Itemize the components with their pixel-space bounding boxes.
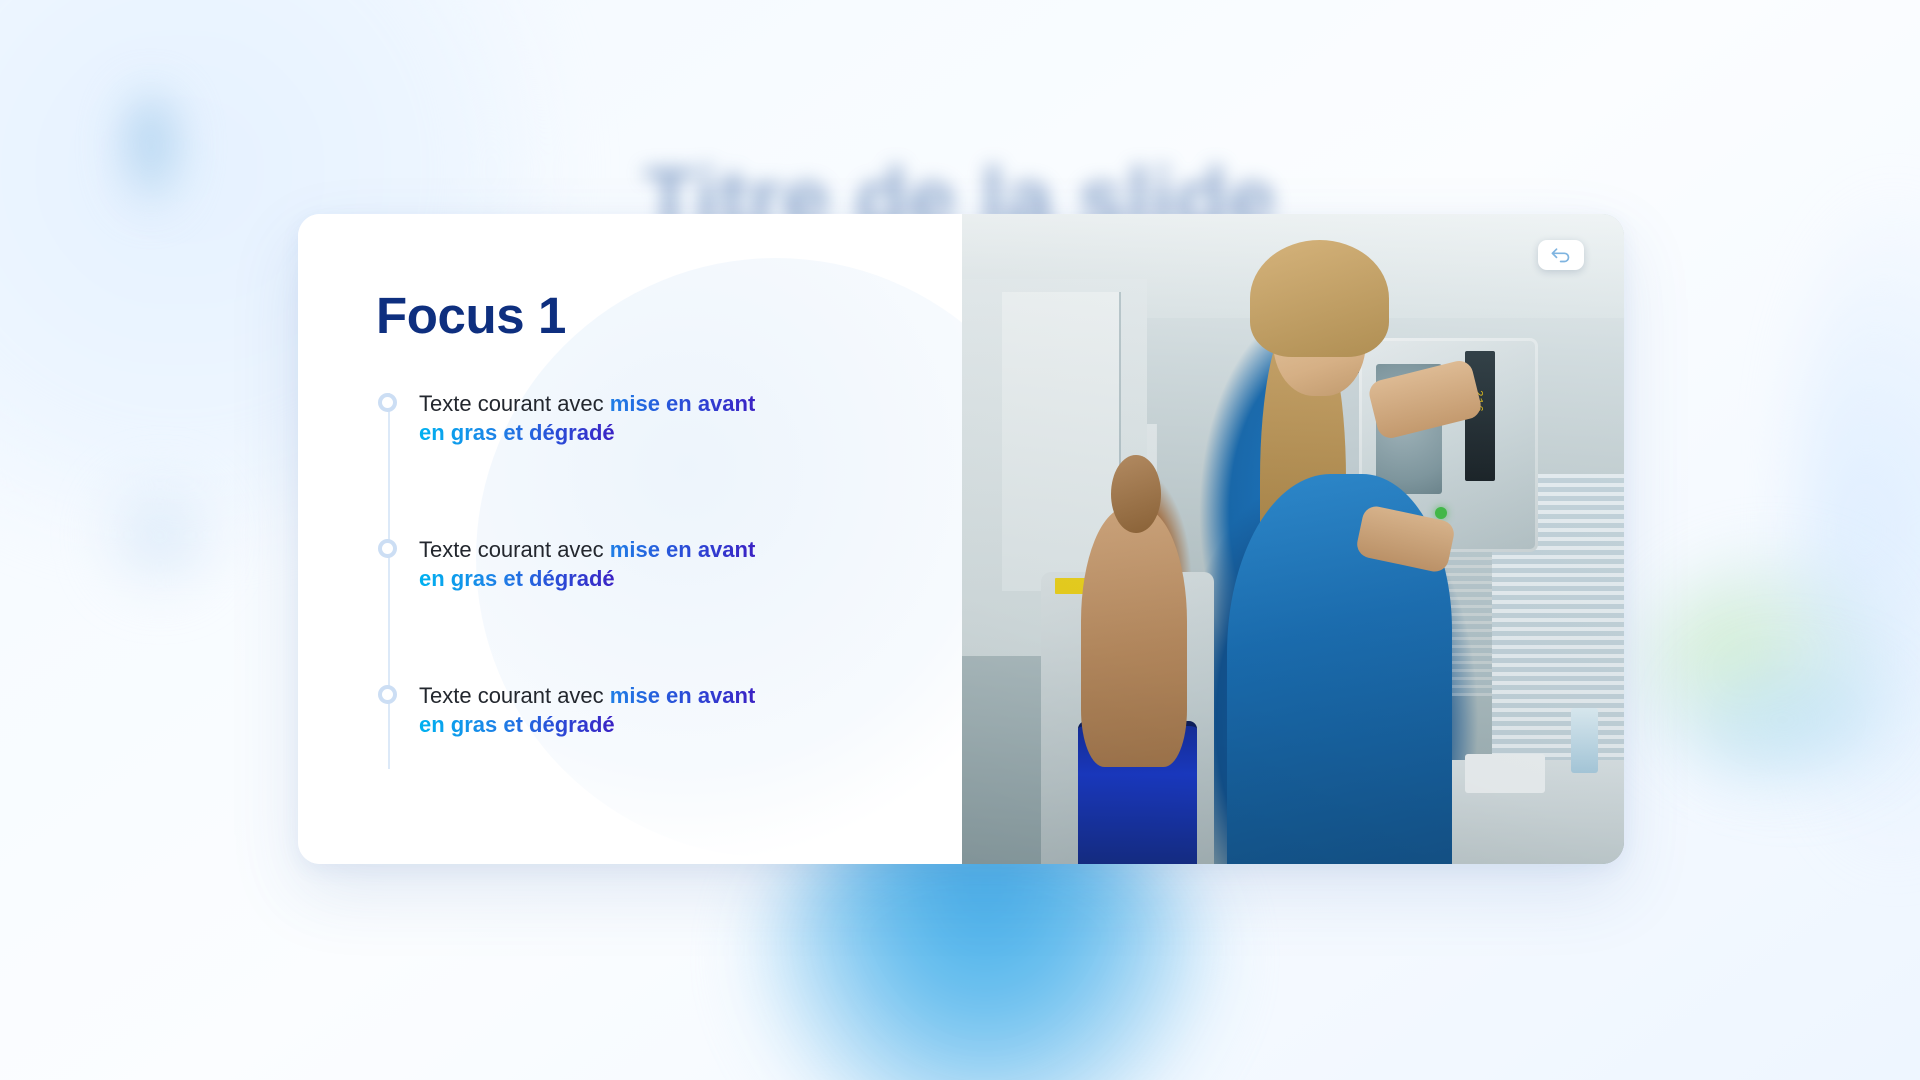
bullet-text: Texte courant avec mise en avanten gras …	[416, 389, 755, 447]
slide-photo	[962, 214, 1624, 864]
list-item[interactable]: Texte courant avec mise en avanten gras …	[376, 535, 962, 681]
bullet-marker	[376, 681, 416, 704]
bullet-highlight-1: mise en avant	[610, 683, 756, 708]
bullet-marker	[376, 389, 416, 412]
undo-button[interactable]	[1538, 240, 1584, 270]
list-item[interactable]: Texte courant avec mise en avanten gras …	[376, 389, 962, 535]
list-item[interactable]: Texte courant avec mise en avanten gras …	[376, 681, 962, 767]
bullet-plain-text: Texte courant avec	[419, 683, 610, 708]
background-blob-right-green	[1640, 560, 1900, 780]
bullet-plain-text: Texte courant avec	[419, 537, 610, 562]
slide-text-pane: Focus 1 Texte courant avec mise en avant…	[298, 214, 962, 864]
slide-photo-pane[interactable]: 216	[962, 214, 1624, 864]
bullet-highlight-2: en gras et dégradé	[419, 566, 615, 591]
bullet-connector-line	[388, 539, 390, 685]
bullet-highlight-2: en gras et dégradé	[419, 712, 615, 737]
background-blob-far-right	[1800, 180, 1920, 880]
bullet-ring-icon	[378, 539, 397, 558]
slide-preview-canvas: Titre de la slide Focus 1 Texte courant …	[0, 0, 1920, 1080]
bullet-list: Texte courant avec mise en avanten gras …	[376, 389, 962, 767]
bullet-highlight-1: mise en avant	[610, 391, 756, 416]
background-blob-right-blue	[1690, 640, 1920, 800]
slide-card[interactable]: Focus 1 Texte courant avec mise en avant…	[298, 214, 1624, 864]
bullet-ring-icon	[378, 685, 397, 704]
undo-arrow-icon	[1550, 247, 1572, 263]
bullet-marker	[376, 535, 416, 558]
bullet-plain-text: Texte courant avec	[419, 391, 610, 416]
bullet-highlight-2: en gras et dégradé	[419, 420, 615, 445]
bullet-text: Texte courant avec mise en avanten gras …	[416, 681, 755, 739]
bullet-ring-icon	[378, 393, 397, 412]
background-blob-left-mid	[100, 470, 220, 600]
bullet-connector-line	[388, 393, 390, 539]
bullet-text: Texte courant avec mise en avanten gras …	[416, 535, 755, 593]
slide-title: Focus 1	[376, 286, 962, 345]
bullet-highlight-1: mise en avant	[610, 537, 756, 562]
background-blob-left-small	[118, 92, 184, 212]
